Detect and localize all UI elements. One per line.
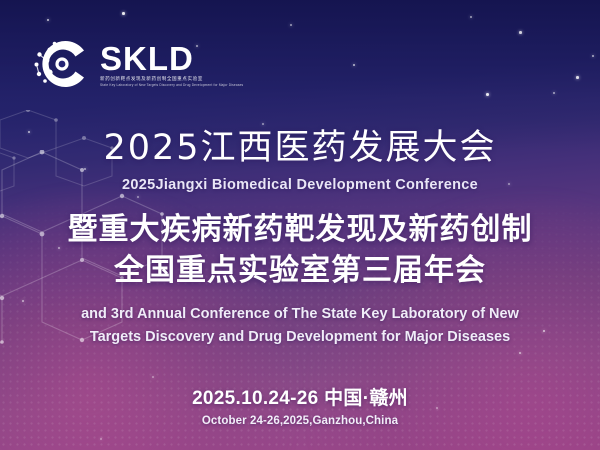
sub-title-en-line1: and 3rd Annual Conference of The State K… (0, 303, 600, 325)
event-date-cn: 2025.10.24-26 中国·赣州 (0, 383, 600, 410)
main-title-en: 2025Jiangxi Biomedical Development Confe… (0, 177, 600, 193)
sub-title-en-block: and 3rd Annual Conference of The State K… (0, 303, 600, 348)
sub-title-cn-line1: 暨重大疾病新药靶发现及新药创制 (0, 211, 600, 249)
conference-poster: SKLD 新药创新靶点发现及新药创制全国重点实验室 State Key Labo… (0, 0, 600, 450)
sub-title-en-line2: Targets Discovery and Drug Development f… (0, 326, 600, 348)
skld-en-name: State Key Laboratory of New Targets Disc… (100, 83, 243, 88)
event-date-en: October 24-26,2025,Ganzhou,China (0, 415, 600, 427)
skld-logo-text: SKLD 新药创新靶点发现及新药创制全国重点实验室 State Key Labo… (100, 41, 243, 88)
poster-footer: 2025.10.24-26 中国·赣州 October 24-26,2025,G… (0, 383, 600, 427)
skld-logo: SKLD 新药创新靶点发现及新药创制全国重点实验室 State Key Labo… (30, 33, 243, 95)
poster-title-block: 2025江西医药发展大会 2025Jiangxi Biomedical Deve… (0, 128, 600, 348)
sub-title-cn-line2: 全国重点实验室第三届年会 (0, 252, 600, 290)
skld-cn-name: 新药创新靶点发现及新药创制全国重点实验室 (100, 76, 243, 83)
main-title-cn: 2025江西医药发展大会 (0, 128, 600, 168)
skld-acronym: SKLD (100, 43, 243, 74)
skld-c-molecule-logo-icon (30, 33, 92, 95)
